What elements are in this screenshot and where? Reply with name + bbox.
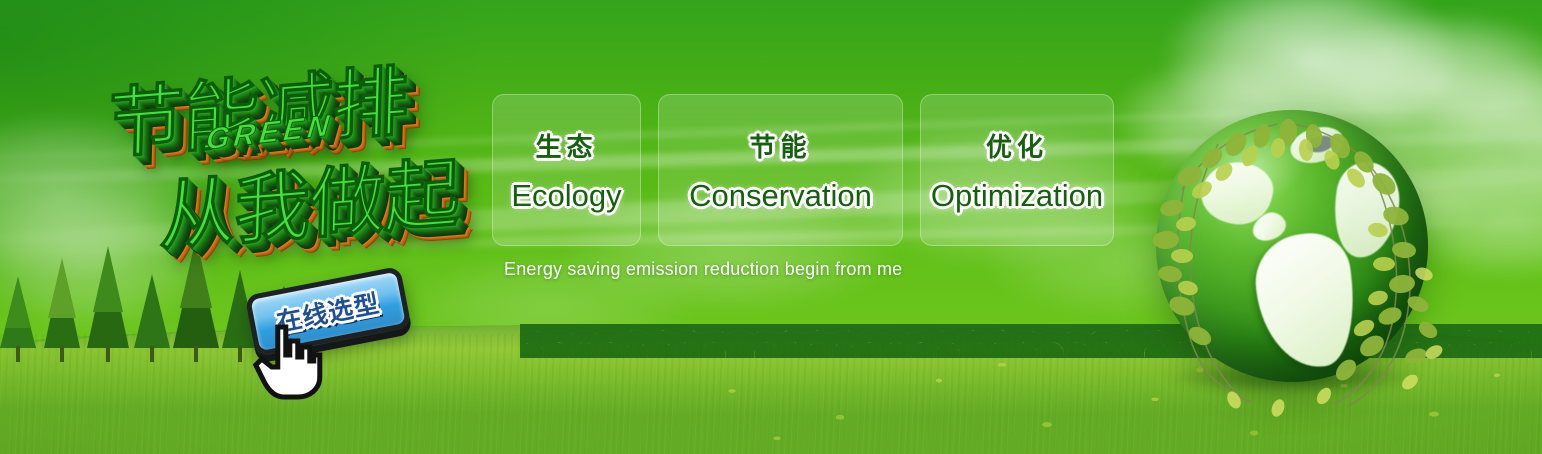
feature-card-cn-label: 节能 (749, 127, 811, 164)
headline-logo: 节能减排 GREEN 从我做起 (90, 25, 507, 286)
feature-card-list: 生态 Ecology 节能 Conservation 优化 Optimizati… (492, 94, 1114, 246)
logo-line-bottom: 从我做起 (158, 131, 460, 265)
green-energy-banner: 节能减排 GREEN 从我做起 生态 Ecology 节能 Conservati… (0, 0, 1542, 454)
feature-card-optimization[interactable]: 优化 Optimization (920, 94, 1114, 246)
feature-card-cn-label: 优化 (986, 127, 1048, 164)
earth-globe-graphic (1128, 98, 1448, 428)
feature-card-en-label: Conservation (689, 178, 872, 214)
feature-card-cn-label: 生态 (535, 127, 597, 164)
feature-card-en-label: Optimization (931, 178, 1103, 214)
feature-card-ecology[interactable]: 生态 Ecology (492, 94, 641, 246)
banner-tagline: Energy saving emission reduction begin f… (504, 259, 902, 280)
feature-card-conservation[interactable]: 节能 Conservation (658, 94, 903, 246)
globe-sphere (1156, 110, 1428, 382)
pointing-hand-cursor-icon (252, 321, 324, 401)
feature-card-en-label: Ecology (511, 178, 621, 214)
